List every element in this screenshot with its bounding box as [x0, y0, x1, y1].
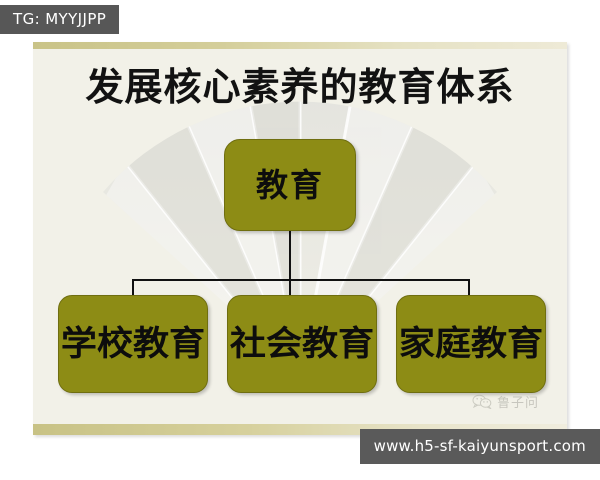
watermark: 鲁子问 [472, 392, 539, 411]
connector-horizontal-bus [132, 279, 470, 281]
org-node-social-label: 社会教育 [230, 327, 374, 361]
slide-top-accent-bar [33, 42, 567, 49]
org-node-family-label: 家庭教育 [399, 327, 543, 361]
wechat-icon [472, 394, 492, 409]
telegram-tag-badge: TG: MYYJJPP [0, 5, 119, 34]
org-node-education-root[interactable]: 教育 [224, 139, 356, 231]
watermark-text: 鲁子问 [497, 392, 539, 411]
slide-title: 发展核心素养的教育体系 [33, 68, 567, 106]
org-node-school-label: 学校教育 [61, 327, 205, 361]
org-node-school-education[interactable]: 学校教育 [58, 295, 208, 393]
screenshot-root: 发展核心素养的教育体系 教育 学校教育 社会教育 家庭教育 [0, 0, 600, 480]
org-node-social-education[interactable]: 社会教育 [227, 295, 377, 393]
org-node-family-education[interactable]: 家庭教育 [396, 295, 546, 393]
presentation-slide: 发展核心素养的教育体系 教育 学校教育 社会教育 家庭教育 [33, 42, 567, 435]
url-watermark-banner: www.h5-sf-kaiyunsport.com [360, 429, 600, 464]
connector-root-stem [289, 231, 291, 280]
connector-drop-social [289, 279, 291, 296]
connector-drop-family [468, 279, 470, 296]
org-node-root-label: 教育 [256, 169, 324, 201]
connector-drop-school [132, 279, 134, 296]
